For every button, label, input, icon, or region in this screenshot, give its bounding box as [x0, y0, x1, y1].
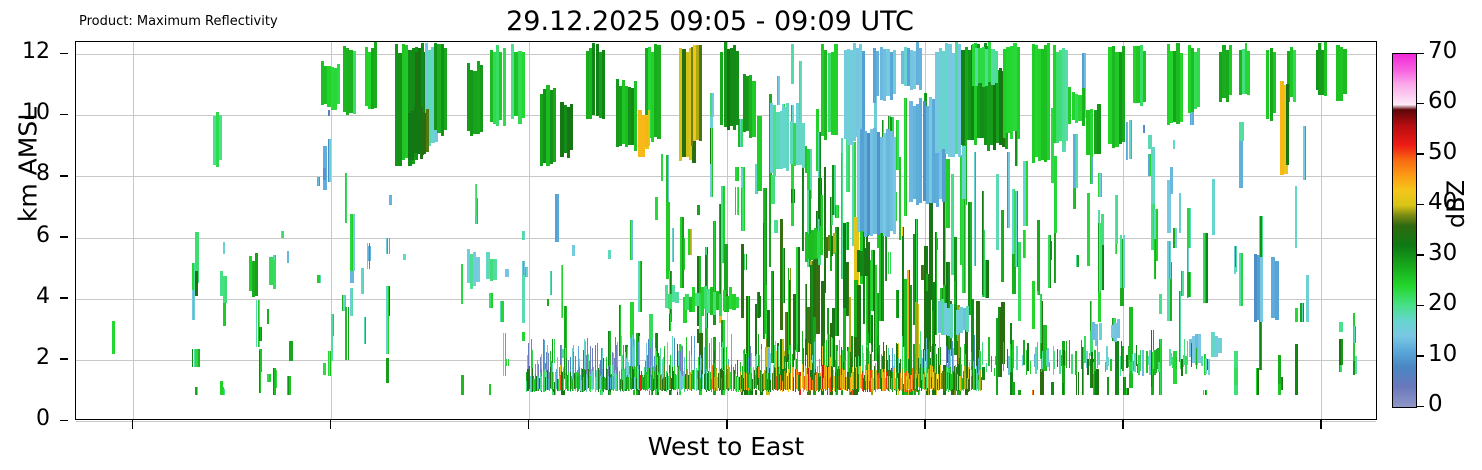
reflectivity-cell: [1144, 125, 1145, 133]
reflectivity-cell: [1129, 307, 1133, 388]
reflectivity-cell: [1078, 372, 1079, 395]
reflectivity-cell: [834, 44, 837, 135]
colorbar-tick-mark: [1417, 53, 1424, 55]
reflectivity-cell: [1117, 319, 1120, 338]
reflectivity-cell: [1187, 341, 1188, 364]
reflectivity-cell: [320, 275, 321, 283]
reflectivity-cell: [686, 337, 687, 370]
reflectivity-cell: [798, 247, 800, 352]
reflectivity-cell: [965, 354, 966, 373]
reflectivity-cell: [1032, 281, 1035, 330]
reflectivity-cell: [833, 233, 836, 253]
reflectivity-cell: [1282, 377, 1283, 390]
y-tick-mark: [60, 175, 68, 177]
reflectivity-cell: [541, 376, 542, 391]
reflectivity-cell: [1075, 351, 1076, 376]
reflectivity-cell: [648, 110, 651, 146]
reflectivity-cell: [694, 369, 695, 388]
reflectivity-cell: [1098, 352, 1099, 365]
reflectivity-cell: [793, 357, 794, 368]
x-axis-tick: [1320, 420, 1322, 429]
page-title: 29.12.2025 09:05 - 09:09 UTC: [0, 6, 1420, 37]
reflectivity-cell: [112, 321, 115, 354]
reflectivity-cell: [198, 349, 199, 367]
x-axis-label: West to East: [75, 432, 1377, 461]
reflectivity-cell: [570, 104, 573, 150]
colorbar-tick-label: 20: [1428, 290, 1457, 316]
reflectivity-cell: [1076, 134, 1077, 188]
colorbar-band: [1393, 406, 1416, 407]
colorbar-tick-mark: [1417, 153, 1424, 155]
colorbar-tick-label: 70: [1428, 38, 1457, 64]
y-axis-tick: 8: [60, 175, 61, 176]
reflectivity-cell: [319, 177, 320, 186]
reflectivity-cell: [374, 42, 377, 108]
reflectivity-cell: [655, 197, 658, 220]
colorbar-label: dBZ: [1442, 134, 1470, 274]
reflectivity-cell: [1023, 340, 1024, 365]
reflectivity-cell: [1103, 245, 1104, 290]
reflectivity-cell: [461, 264, 463, 304]
reflectivity-cell: [981, 377, 982, 390]
reflectivity-cell: [508, 359, 509, 365]
reflectivity-cell: [219, 115, 222, 159]
reflectivity-cell: [940, 347, 941, 365]
reflectivity-cell: [1081, 340, 1082, 368]
reflectivity-cell: [666, 202, 670, 278]
reflectivity-cell: [1247, 51, 1250, 96]
reflectivity-cell: [1273, 52, 1276, 113]
reflectivity-cell: [778, 346, 779, 367]
reflectivity-cell: [363, 268, 364, 294]
reflectivity-cell: [673, 228, 674, 262]
reflectivity-cell: [1069, 340, 1070, 368]
reflectivity-cell: [557, 194, 559, 242]
reflectivity-cell: [1151, 147, 1155, 204]
reflectivity-cell: [988, 337, 989, 366]
reflectivity-cell: [736, 297, 739, 309]
reflectivity-cell: [794, 189, 795, 203]
reflectivity-cell: [1180, 291, 1181, 362]
reflectivity-cell: [502, 301, 503, 322]
reflectivity-cell: [269, 374, 271, 382]
reflectivity-cell: [1003, 210, 1004, 282]
reflectivity-cell: [678, 351, 679, 365]
reflectivity-cell: [631, 220, 632, 260]
reflectivity-cell: [333, 314, 335, 336]
reflectivity-cell: [1037, 220, 1040, 291]
reflectivity-cell: [389, 238, 390, 254]
reflectivity-cell: [751, 353, 752, 374]
reflectivity-cell: [1094, 350, 1095, 371]
reflectivity-cell: [950, 304, 953, 338]
reflectivity-cell: [526, 267, 528, 277]
reflectivity-cell: [1159, 294, 1162, 315]
reflectivity-cell: [1040, 369, 1044, 395]
reflectivity-cell: [1241, 253, 1243, 306]
reflectivity-cell: [565, 348, 566, 373]
reflectivity-cell: [1030, 361, 1031, 374]
reflectivity-cell: [1212, 179, 1215, 235]
reflectivity-cell: [505, 333, 507, 375]
reflectivity-cell: [579, 359, 580, 367]
reflectivity-cell: [1206, 233, 1207, 303]
reflectivity-cell: [1097, 104, 1101, 153]
reflectivity-cell: [791, 44, 794, 84]
reflectivity-cell: [331, 336, 333, 361]
reflectivity-cell: [353, 214, 354, 271]
reflectivity-cell: [712, 93, 714, 118]
reflectivity-cell: [662, 154, 663, 181]
reflectivity-cell: [1341, 339, 1343, 366]
reflectivity-cell: [389, 286, 390, 316]
reflectivity-cell: [255, 253, 258, 295]
reflectivity-cell: [712, 128, 713, 164]
reflectivity-cell: [987, 260, 988, 298]
reflectivity-cell: [1089, 353, 1090, 366]
y-tick-mark: [60, 297, 68, 299]
reflectivity-cell: [1042, 351, 1043, 369]
reflectivity-cell: [1201, 356, 1202, 367]
reflectivity-cell: [572, 245, 575, 256]
reflectivity-cell: [1197, 48, 1200, 107]
reflectivity-cell: [893, 50, 896, 94]
reflectivity-cell: [328, 110, 330, 116]
reflectivity-cell: [766, 188, 767, 285]
reflectivity-cell: [956, 281, 957, 304]
reflectivity-cell: [283, 231, 284, 238]
x-axis-tick: [726, 420, 728, 429]
reflectivity-cell: [970, 202, 972, 315]
reflectivity-cell: [1175, 228, 1177, 248]
reflectivity-cell: [1016, 346, 1017, 370]
y-axis-tick: 4: [60, 298, 61, 299]
reflectivity-cell: [1128, 388, 1129, 395]
y-tick-mark: [60, 53, 68, 55]
reflectivity-cell: [1206, 390, 1207, 396]
reflectivity-cell: [1297, 344, 1298, 395]
colorbar-tick-label: 0: [1428, 391, 1443, 417]
colorbar-tick-mark: [1417, 305, 1424, 307]
y-tick-label: 2: [0, 345, 50, 370]
reflectivity-cell: [657, 45, 660, 140]
reflectivity-cell: [1191, 343, 1192, 367]
colorbar-tick-mark: [1417, 254, 1424, 256]
reflectivity-cell: [845, 360, 846, 377]
reflectivity-cell: [1208, 359, 1209, 375]
x-axis-tick: [132, 420, 134, 429]
colorbar-tick: 30: [1417, 255, 1418, 256]
reflectivity-cell: [820, 226, 823, 255]
reflectivity-cell: [1025, 230, 1026, 258]
y-tick-mark: [60, 358, 68, 360]
reflectivity-cell: [276, 370, 277, 388]
reflectivity-cell: [867, 242, 870, 277]
reflectivity-cell: [731, 334, 732, 366]
reflectivity-cell: [701, 358, 702, 370]
reflectivity-cell: [403, 254, 406, 260]
reflectivity-cell: [617, 342, 618, 366]
reflectivity-cell: [1054, 351, 1055, 369]
reflectivity-cell: [1057, 349, 1058, 368]
reflectivity-cell: [735, 364, 736, 374]
reflectivity-cell: [353, 51, 356, 114]
reflectivity-cell: [897, 290, 898, 318]
x-axis-tick: [924, 420, 926, 429]
reflectivity-cell: [1324, 42, 1327, 96]
colorbar-tick: 70: [1417, 53, 1418, 54]
reflectivity-cell: [287, 251, 289, 264]
reflectivity-cell: [1258, 368, 1259, 395]
reflectivity-cell: [274, 368, 275, 395]
reflectivity-cell: [743, 168, 745, 189]
reflectivity-cell: [1140, 350, 1141, 371]
reflectivity-cell: [1077, 255, 1078, 267]
reflectivity-cell: [931, 346, 932, 368]
reflectivity-cell: [1099, 323, 1102, 341]
reflectivity-cell: [1286, 84, 1290, 165]
reflectivity-cell: [330, 139, 331, 182]
reflectivity-cell: [223, 242, 225, 254]
reflectivity-cell: [608, 250, 611, 259]
reflectivity-cell: [1071, 354, 1072, 374]
reflectivity-cell: [740, 362, 741, 372]
plot-area: [75, 41, 1377, 420]
reflectivity-cell: [962, 146, 965, 199]
reflectivity-cell: [652, 339, 653, 367]
reflectivity-cell: [634, 81, 637, 151]
reflectivity-cell: [1173, 140, 1175, 149]
reflectivity-cell: [489, 384, 491, 395]
reflectivity-cell: [670, 355, 671, 376]
colorbar: [1392, 53, 1417, 408]
reflectivity-cell: [1308, 275, 1309, 323]
reflectivity-cell: [1160, 345, 1161, 370]
reflectivity-cell: [975, 152, 976, 265]
colorbar-tick: 20: [1417, 305, 1418, 306]
reflectivity-cell: [1116, 195, 1117, 244]
reflectivity-cell: [824, 343, 825, 365]
reflectivity-cell: [606, 357, 607, 368]
reflectivity-cell: [224, 389, 225, 395]
reflectivity-cell: [1018, 390, 1021, 396]
reflectivity-cell: [1054, 156, 1057, 234]
reflectivity-cell: [1087, 193, 1090, 266]
reflectivity-cell: [815, 338, 816, 369]
reflectivity-cell: [738, 187, 739, 215]
y-axis-tick: 10: [60, 114, 61, 115]
reflectivity-cell: [670, 314, 671, 330]
reflectivity-cell: [273, 260, 277, 289]
reflectivity-cell: [1117, 360, 1118, 369]
reflectivity-cell: [936, 232, 937, 335]
reflectivity-cell: [267, 309, 269, 323]
reflectivity-cell: [746, 254, 748, 270]
reflectivity-cell: [994, 368, 995, 376]
reflectivity-cell: [522, 275, 525, 323]
reflectivity-cell: [346, 173, 347, 223]
reflectivity-cell: [1303, 303, 1304, 322]
reflectivity-cell: [503, 48, 506, 127]
reflectivity-cell: [1295, 186, 1297, 248]
reflectivity-cell: [832, 338, 833, 367]
reflectivity-cell: [1176, 357, 1177, 369]
reflectivity-cell: [223, 300, 226, 326]
colorbar-tick: 60: [1417, 103, 1418, 104]
reflectivity-cell: [1142, 350, 1143, 376]
reflectivity-cell: [337, 64, 340, 104]
reflectivity-cell: [1051, 382, 1054, 395]
reflectivity-cell: [197, 387, 198, 395]
reflectivity-cell: [260, 351, 261, 393]
colorbar-tick: 0: [1417, 406, 1418, 407]
reflectivity-cell: [1143, 51, 1146, 101]
reflectivity-cell: [908, 359, 909, 373]
y-tick-label: 4: [0, 284, 50, 309]
x-axis-tick: [330, 420, 332, 429]
reflectivity-cell: [1097, 369, 1099, 395]
reflectivity-cell: [1018, 242, 1021, 320]
reflectivity-cell: [491, 293, 493, 308]
reflectivity-cell: [691, 229, 692, 255]
y-tick-label: 0: [0, 406, 50, 431]
reflectivity-cell: [1235, 267, 1236, 274]
reflectivity-cell: [444, 48, 447, 131]
reflectivity-cell: [1017, 47, 1020, 140]
reflectivity-cell: [1260, 257, 1263, 322]
reflectivity-cell: [950, 349, 951, 367]
reflectivity-cell: [974, 335, 975, 367]
reflectivity-cell: [1170, 241, 1171, 279]
colorbar-tick: 40: [1417, 204, 1418, 205]
reflectivity-cell: [757, 116, 761, 191]
colorbar-tick-mark: [1417, 103, 1424, 105]
reflectivity-cell: [1295, 308, 1298, 322]
reflectivity-cell: [805, 339, 806, 366]
reflectivity-cell: [634, 339, 635, 366]
reflectivity-cell: [838, 205, 839, 219]
reflectivity-cell: [723, 348, 724, 370]
reflectivity-cell: [882, 230, 883, 321]
reflectivity-cell: [699, 45, 702, 140]
reflectivity-heatmap: [76, 42, 1376, 419]
reflectivity-cell: [1003, 342, 1004, 371]
reflectivity-cell: [1033, 390, 1034, 396]
radar-cross-section-figure: Product: Maximum Reflectivity 29.12.2025…: [0, 0, 1482, 470]
colorbar-tick-mark: [1417, 406, 1424, 408]
reflectivity-cell: [917, 219, 918, 307]
colorbar-tick-label: 60: [1428, 88, 1457, 114]
reflectivity-cell: [386, 358, 389, 383]
reflectivity-cell: [348, 307, 349, 360]
reflectivity-cell: [893, 137, 896, 234]
reflectivity-cell: [522, 52, 526, 117]
reflectivity-cell: [937, 238, 938, 249]
reflectivity-cell: [568, 360, 569, 372]
colorbar-tick: 50: [1417, 154, 1418, 155]
reflectivity-cell: [1012, 340, 1013, 368]
reflectivity-cell: [476, 257, 479, 282]
reflectivity-cell: [557, 357, 558, 379]
reflectivity-cell: [982, 342, 983, 365]
reflectivity-cell: [1183, 271, 1184, 296]
reflectivity-cell: [289, 376, 290, 395]
reflectivity-cell: [641, 261, 642, 312]
reflectivity-cell: [1172, 357, 1173, 368]
reflectivity-cell: [522, 332, 525, 341]
reflectivity-cell: [541, 369, 542, 376]
reflectivity-cell: [1229, 45, 1232, 94]
reflectivity-cell: [719, 342, 720, 369]
reflectivity-cell: [554, 339, 555, 363]
y-axis-label: km AMSL: [14, 45, 43, 285]
reflectivity-cell: [824, 167, 826, 292]
reflectivity-cell: [924, 350, 925, 373]
reflectivity-cell: [365, 317, 366, 344]
reflectivity-cell: [1107, 377, 1109, 395]
reflectivity-cell: [1122, 46, 1125, 141]
reflectivity-cell: [672, 336, 673, 367]
reflectivity-cell: [195, 271, 198, 296]
reflectivity-cell: [697, 205, 700, 215]
reflectivity-cell: [991, 356, 992, 373]
reflectivity-cell: [751, 373, 752, 390]
y-tick-mark: [60, 114, 68, 116]
reflectivity-cell: [755, 390, 757, 396]
reflectivity-cell: [771, 175, 774, 203]
reflectivity-cell: [1343, 49, 1346, 94]
reflectivity-cell: [480, 65, 483, 132]
reflectivity-cell: [1050, 235, 1051, 287]
reflectivity-cell: [369, 243, 371, 269]
x-axis-tick: [1122, 420, 1124, 429]
reflectivity-cell: [1026, 161, 1028, 227]
y-axis-tick: 6: [60, 237, 61, 238]
reflectivity-cell: [1190, 208, 1191, 248]
reflectivity-cell: [996, 174, 999, 250]
reflectivity-cell: [719, 294, 722, 316]
reflectivity-cell: [323, 363, 326, 375]
colorbar-tick-mark: [1417, 355, 1424, 357]
reflectivity-cell: [736, 51, 739, 125]
reflectivity-cell: [1049, 362, 1050, 372]
reflectivity-cell: [837, 227, 839, 336]
reflectivity-cell: [797, 344, 798, 375]
reflectivity-cell: [668, 155, 670, 204]
reflectivity-cell: [602, 50, 605, 119]
reflectivity-cell: [552, 363, 553, 372]
reflectivity-cell: [1355, 326, 1356, 343]
reflectivity-cell: [986, 363, 987, 372]
reflectivity-cell: [352, 288, 353, 316]
reflectivity-cell: [1180, 53, 1183, 122]
reflectivity-cell: [1055, 225, 1056, 282]
reflectivity-cell: [704, 347, 705, 375]
reflectivity-cell: [1047, 43, 1050, 159]
y-axis-tick: 0: [60, 420, 61, 421]
reflectivity-cell: [225, 276, 227, 304]
reflectivity-cell: [965, 197, 966, 293]
reflectivity-cell: [737, 167, 739, 181]
reflectivity-cell: [1180, 193, 1181, 233]
y-axis-tick: 2: [60, 359, 61, 360]
reflectivity-cell: [675, 292, 679, 303]
reflectivity-cell: [1339, 322, 1343, 332]
reflectivity-cell: [1149, 350, 1150, 375]
reflectivity-cell: [778, 76, 779, 105]
reflectivity-cell: [535, 364, 536, 374]
reflectivity-cell: [547, 299, 549, 306]
